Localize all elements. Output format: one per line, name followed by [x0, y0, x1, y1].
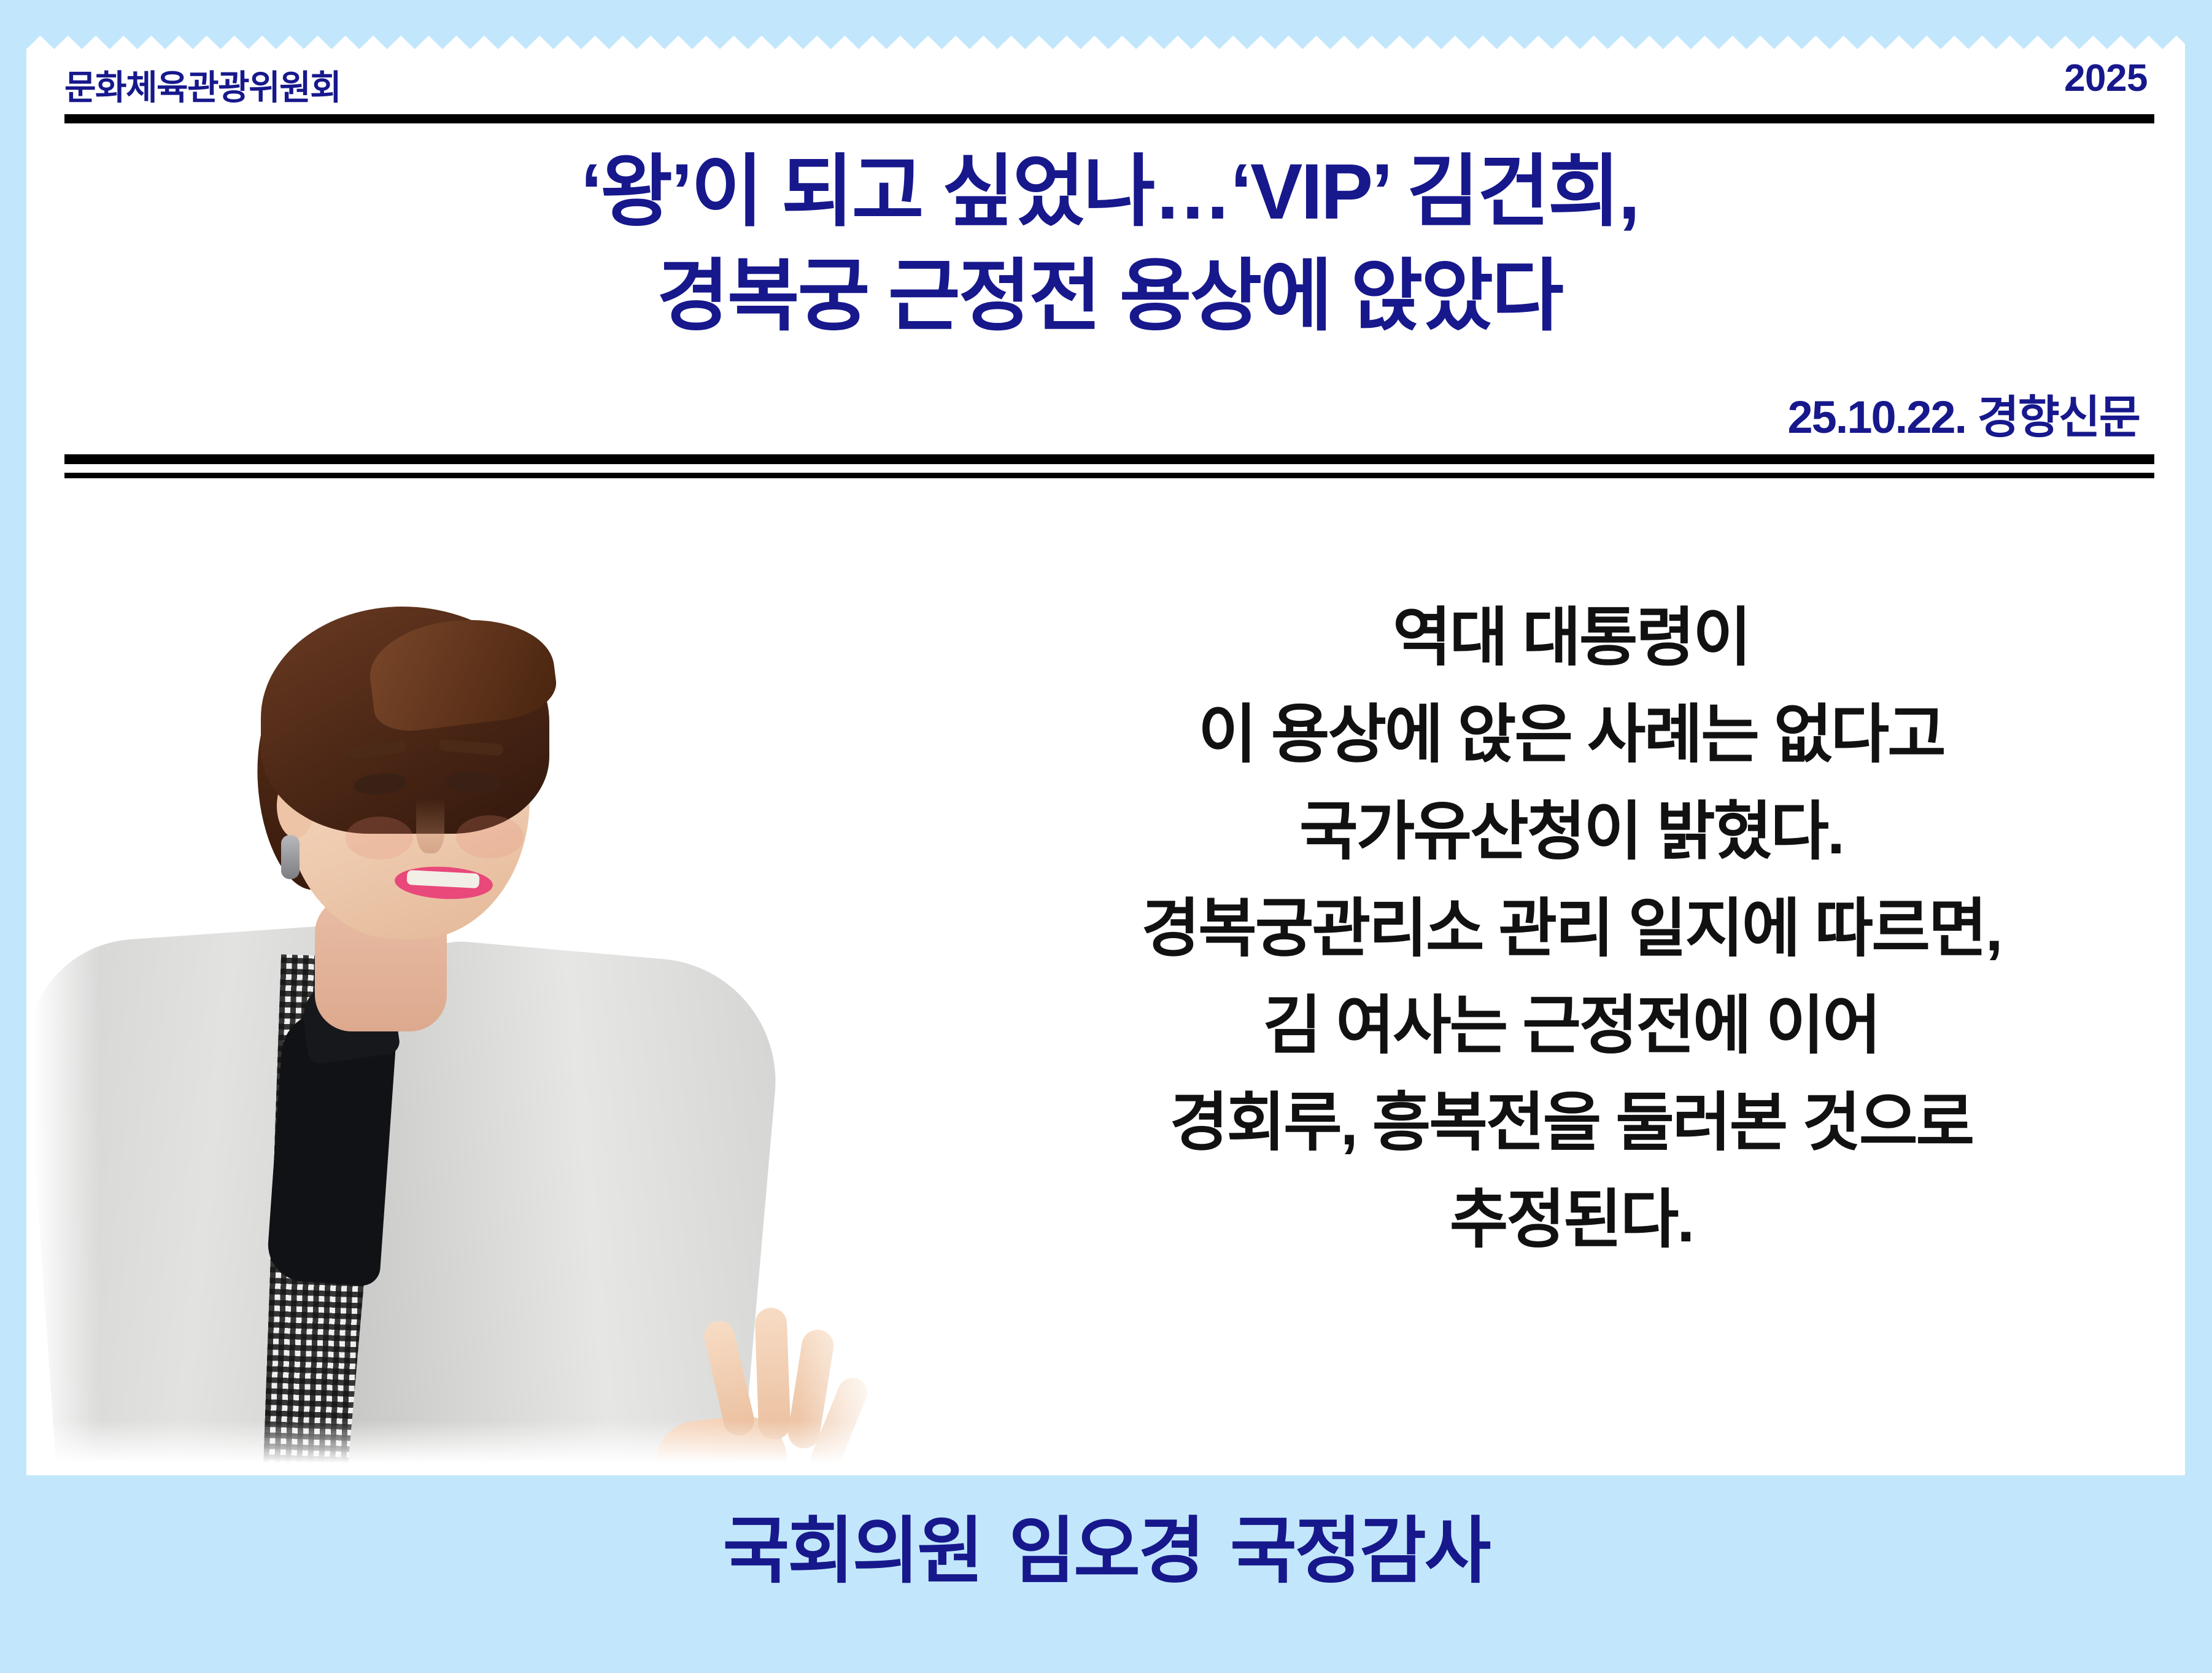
- slide-root: 문화체육관광위원회 2025 ‘왕’이 되고 싶었나…‘VIP’ 김건희, 경복…: [0, 0, 2212, 1673]
- headline-line-1: ‘왕’이 되고 싶었나…‘VIP’ 김건희,: [64, 140, 2154, 244]
- nose: [416, 798, 444, 853]
- photo-fade-right: [800, 528, 898, 1475]
- body-line-1: 역대 대통령이: [988, 589, 2154, 686]
- year-label: 2025: [2064, 56, 2148, 100]
- body-line-5: 김 여사는 근정전에 이어: [988, 977, 2154, 1074]
- headline: ‘왕’이 되고 싶었나…‘VIP’ 김건희, 경복궁 근정전 용상에 앉았다: [64, 140, 2154, 349]
- photo-fade-left: [26, 528, 100, 1475]
- footer-member-name: 임오경: [1000, 1511, 1212, 1592]
- body-line-2: 이 용상에 앉은 사례는 없다고: [988, 686, 2154, 783]
- source-attribution: 25.10.22. 경향신문: [1788, 381, 2140, 446]
- photo-fade-bottom: [26, 1420, 898, 1475]
- sawtooth-edge-decoration: [26, 36, 2185, 49]
- headline-line-2: 경복궁 근정전 용상에 앉았다: [64, 244, 2154, 349]
- body-line-6: 경회루, 흥복전을 둘러본 것으로: [988, 1074, 2154, 1171]
- body-text: 역대 대통령이 이 용상에 앉은 사례는 없다고 국가유산청이 밝혔다. 경복궁…: [988, 589, 2154, 1269]
- headline-divider-rule-thin: [64, 473, 2154, 478]
- committee-name: 문화체육관광위원회: [64, 60, 341, 110]
- body-line-3: 국가유산청이 밝혔다.: [988, 783, 2154, 880]
- footer-prefix: 국회의원: [723, 1511, 982, 1592]
- body-line-4: 경복궁관리소 관리 일지에 따르면,: [988, 880, 2154, 977]
- cheek-left: [346, 817, 413, 860]
- body-line-7: 추정된다.: [988, 1171, 2154, 1268]
- headline-divider-rule-thick: [64, 454, 2154, 464]
- earring: [281, 835, 300, 879]
- footer-suffix: 국정감사: [1230, 1511, 1489, 1592]
- cheek-right: [456, 815, 524, 858]
- header-divider-rule: [64, 114, 2154, 123]
- footer: 국회의원 임오경 국정감사: [0, 1492, 2212, 1597]
- portrait-photo: [26, 528, 898, 1475]
